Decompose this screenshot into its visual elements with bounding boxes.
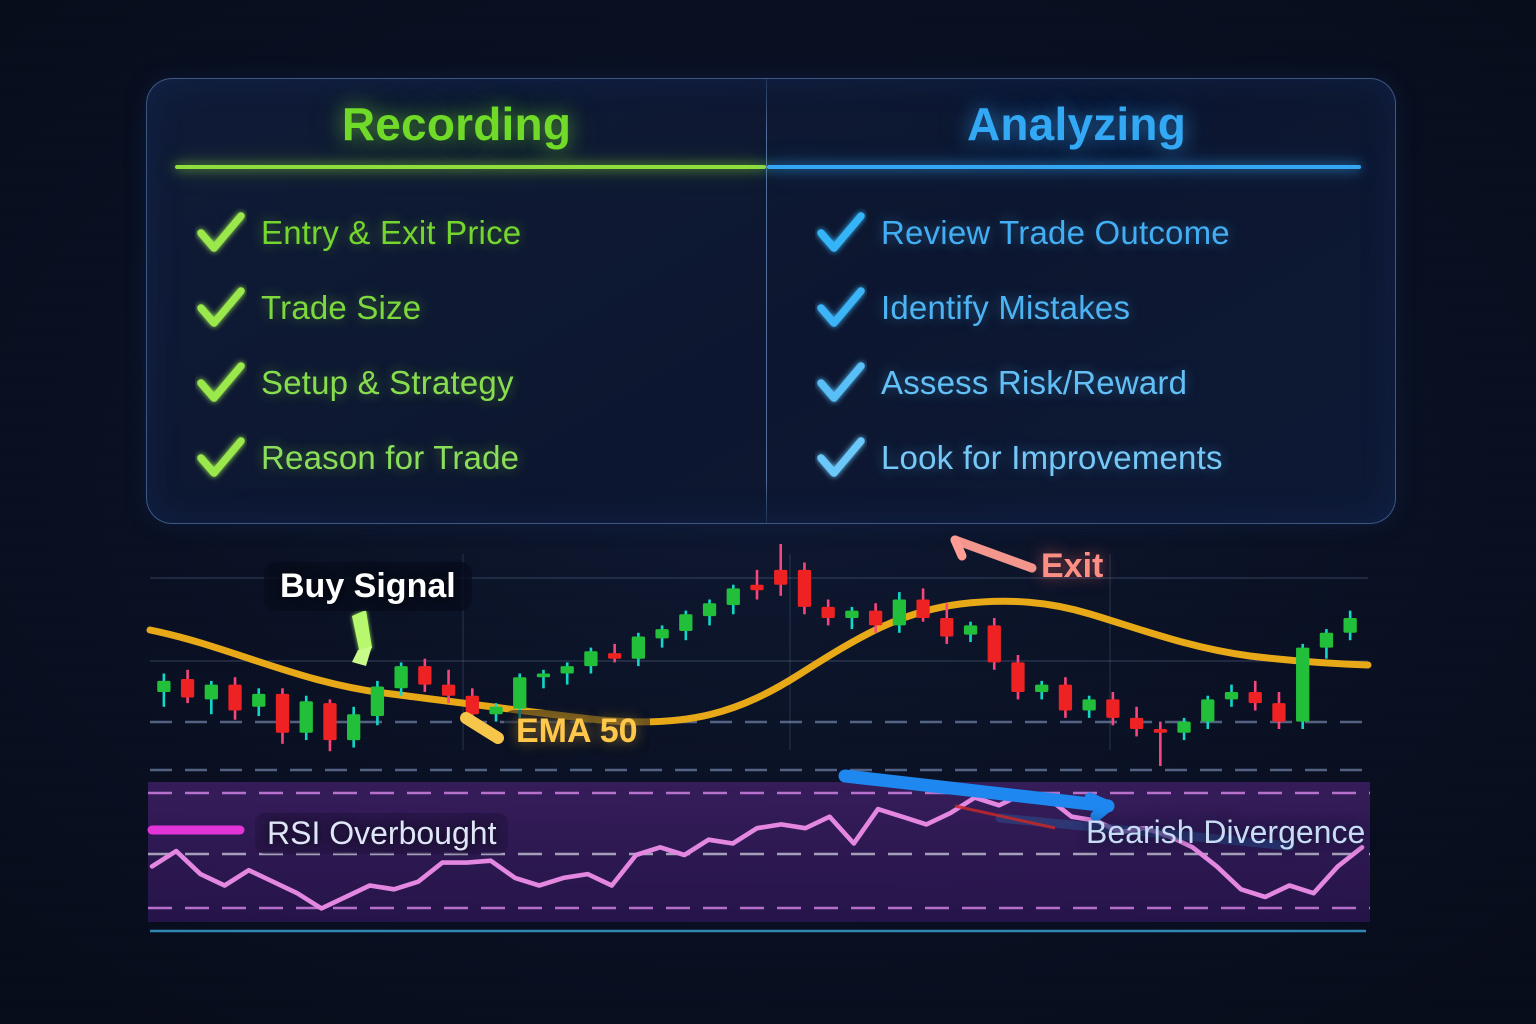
check-icon <box>815 282 867 334</box>
candle-body <box>394 666 407 688</box>
ema-pointer-icon <box>466 718 498 738</box>
candle-body <box>489 707 502 714</box>
candle-body <box>276 694 289 733</box>
analyzing-item-2-label: Identify Mistakes <box>881 289 1130 327</box>
candle-body <box>371 686 384 716</box>
candle-body <box>205 685 218 700</box>
recording-item-2-label: Trade Size <box>261 289 421 327</box>
rsi-overbought-label: RSI Overbought <box>255 813 508 854</box>
candle-body <box>1106 699 1119 718</box>
recording-item-list: Entry & Exit Price Trade Size <box>147 195 766 495</box>
candle-body <box>655 629 668 638</box>
candle-body <box>1035 685 1048 692</box>
candle-body <box>1011 662 1024 692</box>
candle-body <box>1343 618 1356 633</box>
analyzing-item-3-label: Assess Risk/Reward <box>881 364 1187 402</box>
candle-body <box>1272 703 1285 722</box>
recording-item-1[interactable]: Entry & Exit Price <box>147 195 766 270</box>
candle-body <box>988 625 1001 662</box>
candle-body <box>1059 685 1072 711</box>
candle-body <box>964 625 977 634</box>
candle-body <box>584 651 597 666</box>
candle-body <box>1225 692 1238 699</box>
candle-body <box>466 696 479 715</box>
exit-arrow-icon <box>955 540 1032 568</box>
candle-body <box>300 701 313 732</box>
recording-item-3-label: Setup & Strategy <box>261 364 514 402</box>
candle-body <box>1296 648 1309 722</box>
candle-body <box>1320 633 1333 648</box>
analyzing-underline <box>767 165 1361 169</box>
check-icon <box>815 432 867 484</box>
candle-body <box>1201 699 1214 721</box>
analyzing-item-list: Review Trade Outcome Identify Mistakes <box>767 195 1386 495</box>
candle-body <box>1130 718 1143 729</box>
candle-body <box>703 603 716 616</box>
recording-item-1-label: Entry & Exit Price <box>261 214 521 252</box>
candle-body <box>822 607 835 618</box>
candle-body <box>940 618 953 637</box>
canvas-background: Recording Entry & Exit Price <box>0 0 1536 1024</box>
candle-body <box>1249 692 1262 703</box>
candle-body <box>632 637 645 659</box>
check-icon <box>195 282 247 334</box>
chart-canvas <box>0 498 1536 958</box>
candle-body <box>798 570 811 607</box>
candle-body <box>228 685 241 711</box>
trading-chart[interactable] <box>0 498 1536 958</box>
candle-body <box>679 614 692 631</box>
analyzing-item-4[interactable]: Look for Improvements <box>767 420 1386 495</box>
column-analyzing: Analyzing Review Trade Outcome <box>767 79 1386 523</box>
candle-body <box>252 694 265 707</box>
checklist-panel: Recording Entry & Exit Price <box>146 78 1396 524</box>
exit-label: Exit <box>1041 547 1103 586</box>
candle-body <box>1083 699 1096 710</box>
candle-body <box>537 674 550 678</box>
candle-body <box>347 714 360 740</box>
buy-signal-arrow-icon <box>352 610 372 666</box>
candle-body <box>323 703 336 740</box>
analyzing-title: Analyzing <box>767 97 1386 151</box>
analyzing-item-2[interactable]: Identify Mistakes <box>767 270 1386 345</box>
recording-item-2[interactable]: Trade Size <box>147 270 766 345</box>
candle-body <box>513 677 526 708</box>
check-icon <box>195 207 247 259</box>
candle-body <box>750 585 763 591</box>
candle-body <box>774 570 787 585</box>
buy-signal-label: Buy Signal <box>264 562 472 611</box>
recording-title: Recording <box>147 97 766 151</box>
candle-body <box>181 679 194 698</box>
candle-body <box>418 666 431 685</box>
candle-body <box>916 600 929 619</box>
candle-body <box>561 666 574 673</box>
recording-item-4-label: Reason for Trade <box>261 439 519 477</box>
candle-body <box>1154 729 1167 733</box>
candle-body <box>1177 722 1190 733</box>
recording-underline <box>175 165 766 169</box>
candle-body <box>869 611 882 626</box>
check-icon <box>815 207 867 259</box>
candle-body <box>845 611 858 618</box>
check-icon <box>195 357 247 409</box>
analyzing-item-1[interactable]: Review Trade Outcome <box>767 195 1386 270</box>
analyzing-item-4-label: Look for Improvements <box>881 439 1223 477</box>
candle-body <box>893 600 906 626</box>
candle-body <box>157 681 170 692</box>
candle-body <box>727 588 740 605</box>
bearish-divergence-label: Bearish Divergence <box>1086 814 1365 851</box>
column-recording: Recording Entry & Exit Price <box>147 79 766 523</box>
recording-item-3[interactable]: Setup & Strategy <box>147 345 766 420</box>
check-icon <box>195 432 247 484</box>
recording-item-4[interactable]: Reason for Trade <box>147 420 766 495</box>
check-icon <box>815 357 867 409</box>
analyzing-item-3[interactable]: Assess Risk/Reward <box>767 345 1386 420</box>
ema-50-label: EMA 50 <box>504 710 650 753</box>
analyzing-item-1-label: Review Trade Outcome <box>881 214 1230 252</box>
candle-body <box>608 653 621 659</box>
candle-body <box>442 685 455 696</box>
